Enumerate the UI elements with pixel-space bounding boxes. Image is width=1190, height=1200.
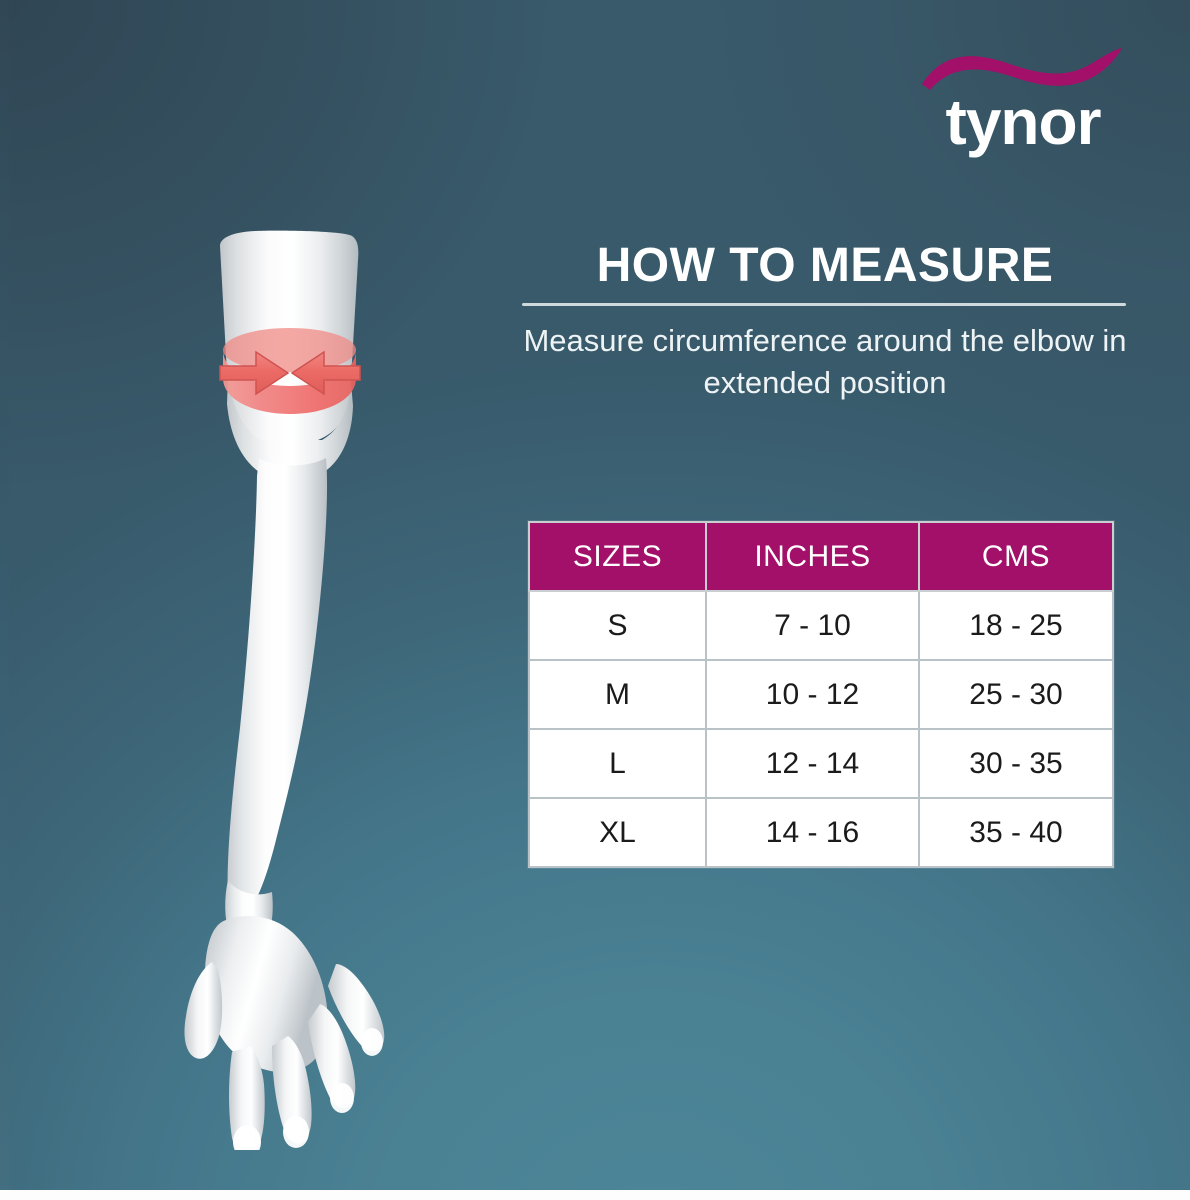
size-table: SIZES INCHES CMS S 7 - 10 18 - 25 M 10 -… xyxy=(528,521,1114,868)
size-chart-page: tynor xyxy=(0,0,1190,1200)
hand xyxy=(205,916,328,1072)
table-header-row: SIZES INCHES CMS xyxy=(529,522,1113,591)
cell-size: XL xyxy=(529,798,706,867)
column-header-inches: INCHES xyxy=(706,522,919,591)
table-row: M 10 - 12 25 - 30 xyxy=(529,660,1113,729)
page-subtitle: Measure circumference around the elbow i… xyxy=(515,320,1135,404)
cell-inches: 14 - 16 xyxy=(706,798,919,867)
table-row: S 7 - 10 18 - 25 xyxy=(529,591,1113,660)
cell-size: L xyxy=(529,729,706,798)
cell-cms: 30 - 35 xyxy=(919,729,1113,798)
cell-inches: 10 - 12 xyxy=(706,660,919,729)
fingernail-middle xyxy=(283,1116,309,1148)
cell-size: S xyxy=(529,591,706,660)
thumb xyxy=(184,962,222,1059)
cell-cms: 25 - 30 xyxy=(919,660,1113,729)
logo-wordmark: tynor xyxy=(918,88,1128,156)
arm-measurement-graphic xyxy=(60,200,500,1150)
cell-cms: 35 - 40 xyxy=(919,798,1113,867)
fingernail-little xyxy=(361,1028,383,1056)
cell-cms: 18 - 25 xyxy=(919,591,1113,660)
fingernail-ring xyxy=(330,1083,354,1113)
table-row: XL 14 - 16 35 - 40 xyxy=(529,798,1113,867)
background-left-edge xyxy=(0,0,9,1190)
forearm xyxy=(228,458,327,906)
arm-illustration xyxy=(60,200,500,1150)
page-title: HOW TO MEASURE xyxy=(520,238,1130,294)
cell-inches: 7 - 10 xyxy=(706,591,919,660)
cell-size: M xyxy=(529,660,706,729)
column-header-cms: CMS xyxy=(919,522,1113,591)
title-divider xyxy=(522,303,1126,306)
column-header-sizes: SIZES xyxy=(529,522,706,591)
background-bottom-strip xyxy=(0,1190,1190,1200)
brand-logo: tynor xyxy=(918,48,1128,163)
cell-inches: 12 - 14 xyxy=(706,729,919,798)
table-row: L 12 - 14 30 - 35 xyxy=(529,729,1113,798)
